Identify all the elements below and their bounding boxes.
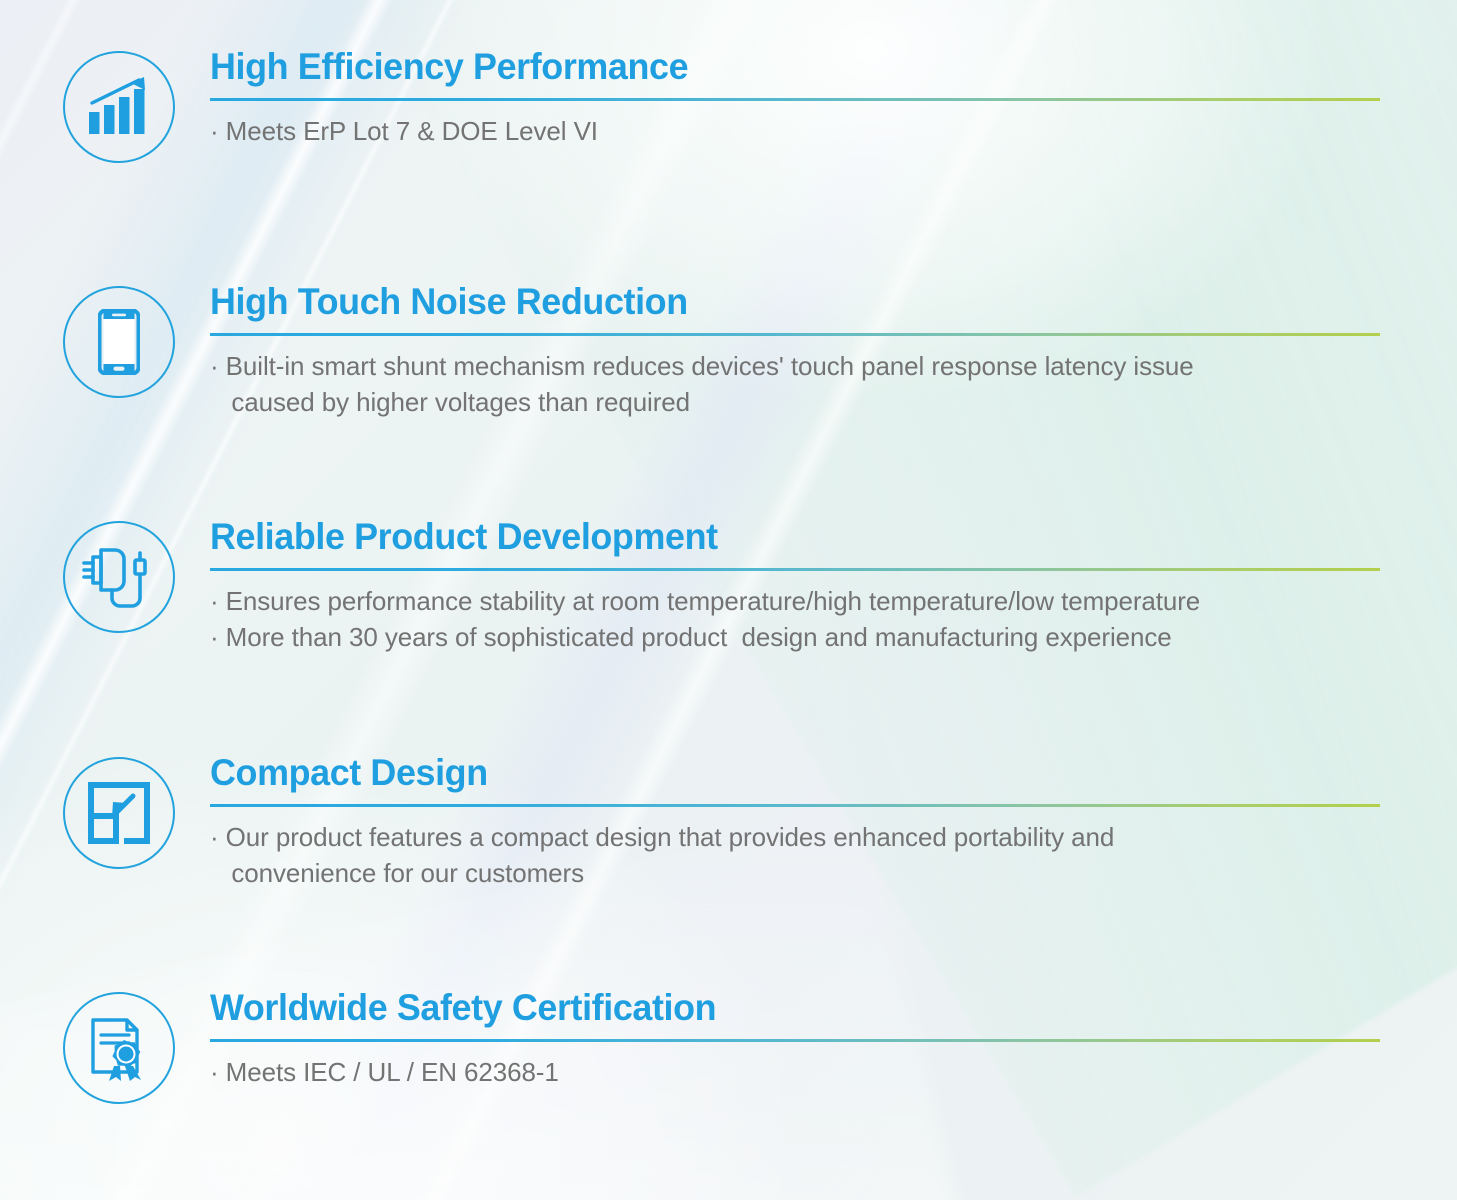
- feature-bullets: · Built-in smart shunt mechanism reduces…: [210, 349, 1380, 421]
- icon-circle: [63, 521, 175, 633]
- compact-resize-icon: [88, 782, 150, 844]
- feature-title: High Efficiency Performance: [210, 48, 1345, 85]
- feature-bullets: · Meets IEC / UL / EN 62368-1: [210, 1055, 1380, 1091]
- feature-divider: [210, 333, 1380, 336]
- icon-circle: [63, 286, 175, 398]
- feature-title: Reliable Product Development: [210, 518, 1345, 555]
- feature-bullet: · Ensures performance stability at room …: [210, 584, 1380, 620]
- feature-item-compact-design: Compact Design · Our product features a …: [0, 754, 1457, 892]
- icon-circle: [63, 992, 175, 1104]
- feature-body: Reliable Product Development · Ensures p…: [210, 518, 1457, 656]
- icon-circle: [63, 757, 175, 869]
- feature-bullet: · Meets ErP Lot 7 & DOE Level VI: [210, 114, 1380, 150]
- feature-body: High Touch Noise Reduction · Built-in sm…: [210, 283, 1457, 421]
- feature-icon-wrapper: [60, 518, 178, 636]
- feature-bullet: · More than 30 years of sophisticated pr…: [210, 620, 1380, 656]
- feature-body: Worldwide Safety Certification · Meets I…: [210, 989, 1457, 1091]
- feature-item-worldwide-safety-certification: Worldwide Safety Certification · Meets I…: [0, 989, 1457, 1107]
- feature-bullets: · Ensures performance stability at room …: [210, 584, 1380, 656]
- feature-body: High Efficiency Performance · Meets ErP …: [210, 48, 1457, 150]
- power-adapter-icon: [81, 541, 157, 613]
- feature-title: Compact Design: [210, 754, 1345, 791]
- feature-divider: [210, 1039, 1380, 1042]
- smartphone-icon: [98, 309, 140, 375]
- feature-icon-wrapper: [60, 989, 178, 1107]
- feature-item-high-efficiency-performance: High Efficiency Performance · Meets ErP …: [0, 48, 1457, 166]
- feature-title: Worldwide Safety Certification: [210, 989, 1345, 1026]
- feature-item-reliable-product-development: Reliable Product Development · Ensures p…: [0, 518, 1457, 656]
- feature-bullet: · Meets IEC / UL / EN 62368-1: [210, 1055, 1380, 1091]
- feature-body: Compact Design · Our product features a …: [210, 754, 1457, 892]
- feature-title: High Touch Noise Reduction: [210, 283, 1345, 320]
- feature-bullet: · Built-in smart shunt mechanism reduces…: [210, 349, 1380, 421]
- icon-circle: [63, 51, 175, 163]
- feature-bullets: · Meets ErP Lot 7 & DOE Level VI: [210, 114, 1380, 150]
- feature-icon-wrapper: [60, 754, 178, 872]
- feature-list: High Efficiency Performance · Meets ErP …: [0, 0, 1457, 1200]
- feature-divider: [210, 804, 1380, 807]
- feature-icon-wrapper: [60, 48, 178, 166]
- bar-chart-growth-icon: [86, 76, 152, 138]
- certificate-seal-icon: [87, 1014, 151, 1082]
- feature-item-high-touch-noise-reduction: High Touch Noise Reduction · Built-in sm…: [0, 283, 1457, 421]
- feature-divider: [210, 568, 1380, 571]
- feature-icon-wrapper: [60, 283, 178, 401]
- feature-bullet: · Our product features a compact design …: [210, 820, 1380, 892]
- feature-divider: [210, 98, 1380, 101]
- feature-bullets: · Our product features a compact design …: [210, 820, 1380, 892]
